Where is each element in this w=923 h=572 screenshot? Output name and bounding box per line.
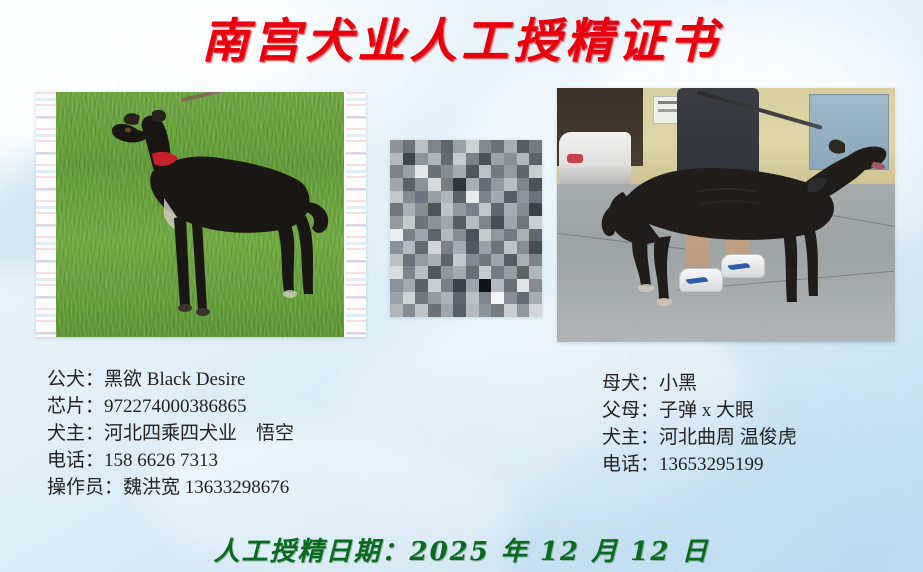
sire-phone-label: 电话：	[47, 450, 104, 471]
mosaic-cell	[428, 203, 441, 216]
mosaic-cell	[441, 229, 454, 242]
dam-row-name: 母犬：小黑	[602, 370, 797, 397]
mosaic-cell	[504, 140, 517, 153]
mosaic-cell	[529, 241, 542, 254]
mosaic-cell	[529, 292, 542, 305]
mosaic-cell	[466, 165, 479, 178]
mosaic-cell	[491, 191, 504, 204]
mosaic-cell	[466, 266, 479, 279]
mosaic-cell	[504, 241, 517, 254]
dam-owner-value: 河北曲周 温俊虎	[659, 427, 797, 448]
mosaic-cell	[441, 241, 454, 254]
dam-phone-label: 电话：	[602, 454, 659, 475]
dam-row-owner: 犬主：河北曲周 温俊虎	[602, 424, 797, 451]
mosaic-cell	[517, 266, 530, 279]
mosaic-cell	[504, 292, 517, 305]
mosaic-cell	[517, 279, 530, 292]
mosaic-cell	[441, 216, 454, 229]
mosaic-cell	[453, 304, 466, 317]
mosaic-cell	[504, 254, 517, 267]
mosaic-cell	[491, 241, 504, 254]
mosaic-cell	[504, 203, 517, 216]
mosaic-cell	[428, 153, 441, 166]
mosaic-cell	[479, 178, 492, 191]
mosaic-cell	[453, 140, 466, 153]
sire-name-value: 黑欲 Black Desire	[104, 369, 245, 390]
sire-row-chip: 芯片：972274000386865	[47, 393, 294, 420]
car-taillight	[567, 154, 583, 163]
mosaic-cell	[453, 241, 466, 254]
mosaic-cell	[479, 266, 492, 279]
mosaic-cell	[428, 216, 441, 229]
operator-value: 魏洪宽 13633298676	[123, 477, 289, 498]
mosaic-cell	[390, 153, 403, 166]
mosaic-cell	[415, 279, 428, 292]
mosaic-cell	[441, 178, 454, 191]
sire-name-label: 公犬：	[47, 369, 104, 390]
mosaic-cell	[415, 266, 428, 279]
mosaic-cell	[428, 229, 441, 242]
dam-parents-value: 子弹 x 大眼	[659, 400, 754, 421]
mosaic-cell	[453, 165, 466, 178]
sire-row-operator: 操作员：魏洪宽 13633298676	[47, 474, 294, 501]
mosaic-cell	[517, 292, 530, 305]
mosaic-cell	[504, 191, 517, 204]
mosaic-cell	[428, 241, 441, 254]
mosaic-cell	[453, 178, 466, 191]
operator-label: 操作员：	[47, 477, 123, 498]
mosaic-cell	[479, 216, 492, 229]
mosaic-cell	[479, 203, 492, 216]
mosaic-cell	[517, 191, 530, 204]
mosaic-cell	[403, 229, 416, 242]
dam-photo-frame	[557, 88, 895, 342]
mosaic-cell	[441, 292, 454, 305]
mosaic-cell	[504, 266, 517, 279]
mosaic-cell	[415, 140, 428, 153]
mosaic-cell	[491, 216, 504, 229]
mosaic-cell	[491, 254, 504, 267]
mosaic-cell	[491, 229, 504, 242]
mosaic-cell	[529, 279, 542, 292]
mosaic-cell	[453, 216, 466, 229]
insemination-date: 人工授精日期：2025 年 12 月 12 日	[0, 531, 923, 568]
mosaic-cell	[453, 292, 466, 305]
mosaic-cell	[466, 241, 479, 254]
mosaic-cell	[415, 241, 428, 254]
mosaic-cell	[491, 292, 504, 305]
mosaic-cell	[403, 203, 416, 216]
mosaic-cell	[415, 216, 428, 229]
mosaic-cell	[428, 140, 441, 153]
mosaic-cell	[415, 203, 428, 216]
mosaic-cell	[403, 165, 416, 178]
mosaic-cell	[403, 178, 416, 191]
mosaic-cell	[403, 216, 416, 229]
mosaic-cell	[529, 266, 542, 279]
mosaic-cell	[415, 304, 428, 317]
mosaic-cell	[415, 178, 428, 191]
mosaic-cell	[479, 279, 492, 292]
mosaic-cell	[390, 140, 403, 153]
mosaic-cell	[504, 165, 517, 178]
mosaic-cell	[428, 279, 441, 292]
dam-phone-value: 13653295199	[659, 454, 764, 475]
mosaic-cell	[403, 191, 416, 204]
mosaic-cell	[517, 203, 530, 216]
mosaic-cell	[441, 165, 454, 178]
mosaic-cell	[466, 216, 479, 229]
mosaic-cell	[529, 191, 542, 204]
mosaic-cell	[390, 292, 403, 305]
mosaic-cell	[466, 292, 479, 305]
certificate-title: 南宫犬业人工授精证书	[0, 2, 923, 71]
sire-phone-value: 158 6626 7313	[104, 450, 218, 471]
mosaic-cell	[403, 266, 416, 279]
mosaic-cell	[491, 153, 504, 166]
mosaic-cell	[441, 140, 454, 153]
dam-photo	[557, 88, 895, 342]
photo-border-strip-right	[346, 92, 366, 337]
mosaic-cell	[415, 153, 428, 166]
mosaic-cell	[428, 266, 441, 279]
dam-owner-label: 犬主：	[602, 427, 659, 448]
mosaic-cell	[415, 254, 428, 267]
mosaic-cell	[466, 140, 479, 153]
dam-row-parents: 父母：子弹 x 大眼	[602, 397, 797, 424]
mosaic-cell	[529, 140, 542, 153]
mosaic-cell	[428, 165, 441, 178]
sire-chip-value: 972274000386865	[104, 396, 247, 417]
mosaic-cell	[403, 153, 416, 166]
sire-dog-figure	[108, 106, 338, 332]
mosaic-cell	[479, 241, 492, 254]
mosaic-cell	[390, 304, 403, 317]
mosaic-cell	[415, 229, 428, 242]
mosaic-cell	[529, 178, 542, 191]
mosaic-cell	[504, 304, 517, 317]
mosaic-cell	[453, 266, 466, 279]
mosaic-cell	[453, 203, 466, 216]
mosaic-cell	[479, 229, 492, 242]
sire-photo-frame	[36, 92, 366, 337]
sire-owner-label: 犬主：	[47, 423, 104, 444]
mosaic-cell	[390, 165, 403, 178]
mosaic-cell	[517, 304, 530, 317]
mosaic-cell	[390, 279, 403, 292]
mosaic-cell	[415, 191, 428, 204]
mosaic-cell	[466, 203, 479, 216]
photo-border-strip-left	[36, 92, 56, 337]
mosaic-cell	[390, 216, 403, 229]
mosaic-cell	[453, 229, 466, 242]
mosaic-cell	[441, 304, 454, 317]
mosaic-cell	[390, 241, 403, 254]
mosaic-cell	[403, 292, 416, 305]
sire-row-name: 公犬：黑欲 Black Desire	[47, 366, 294, 393]
mosaic-cell	[390, 191, 403, 204]
mosaic-cell	[491, 140, 504, 153]
mosaic-cell	[403, 304, 416, 317]
mosaic-cell	[529, 153, 542, 166]
mosaic-cell	[390, 254, 403, 267]
mosaic-cell	[441, 254, 454, 267]
dam-information: 母犬：小黑 父母：子弹 x 大眼 犬主：河北曲周 温俊虎 电话：13653295…	[602, 370, 797, 478]
mosaic-cell	[403, 254, 416, 267]
mosaic-cell	[441, 203, 454, 216]
mosaic-cell	[529, 203, 542, 216]
mosaic-cell	[466, 279, 479, 292]
mosaic-cell	[428, 292, 441, 305]
mosaic-cell	[453, 191, 466, 204]
mosaic-cell	[428, 191, 441, 204]
mosaic-cell	[517, 216, 530, 229]
sire-chip-label: 芯片：	[47, 396, 104, 417]
dam-name-value: 小黑	[659, 373, 697, 394]
mosaic-cell	[415, 292, 428, 305]
mosaic-cell	[504, 229, 517, 242]
dam-dog-figure	[597, 110, 887, 328]
mosaic-cell	[479, 304, 492, 317]
mosaic-cell	[529, 254, 542, 267]
mosaic-cell	[466, 191, 479, 204]
mosaic-cell	[479, 165, 492, 178]
dam-row-phone: 电话：13653295199	[602, 451, 797, 478]
mosaic-cell	[504, 153, 517, 166]
mosaic-cell	[479, 254, 492, 267]
sire-owner-value: 河北四乘四犬业 悟空	[104, 423, 294, 444]
insemination-certificate: 南宫犬业人工授精证书	[0, 0, 923, 572]
mosaic-cell	[453, 254, 466, 267]
mosaic-cell	[466, 178, 479, 191]
sire-photo	[56, 92, 344, 337]
mosaic-cell	[415, 165, 428, 178]
mosaic-cell	[466, 254, 479, 267]
mosaic-cell	[441, 279, 454, 292]
mosaic-cell	[517, 241, 530, 254]
mosaic-cell	[390, 266, 403, 279]
mosaic-cell	[491, 178, 504, 191]
mosaic-cell	[390, 229, 403, 242]
mosaic-cell	[491, 304, 504, 317]
mosaic-cell	[441, 191, 454, 204]
mosaic-cell	[479, 191, 492, 204]
mosaic-cell	[453, 153, 466, 166]
mosaic-cell	[441, 153, 454, 166]
mosaic-cell	[491, 266, 504, 279]
mosaic-cell	[517, 153, 530, 166]
mosaic-cell	[479, 153, 492, 166]
mosaic-cell	[517, 140, 530, 153]
mosaic-cell	[453, 279, 466, 292]
mosaic-cell	[428, 178, 441, 191]
mosaic-cell	[403, 279, 416, 292]
mosaic-cell	[403, 140, 416, 153]
mosaic-cell	[428, 254, 441, 267]
mosaic-cell	[529, 165, 542, 178]
mosaic-cell	[529, 229, 542, 242]
mosaic-cell	[517, 178, 530, 191]
sire-row-phone: 电话：158 6626 7313	[47, 447, 294, 474]
mosaic-cell	[441, 266, 454, 279]
mosaic-cell	[479, 140, 492, 153]
mosaic-cell	[491, 165, 504, 178]
dam-parents-label: 父母：	[602, 400, 659, 421]
mosaic-cell	[390, 203, 403, 216]
mosaic-cell	[504, 216, 517, 229]
mosaic-cell	[517, 165, 530, 178]
dam-name-label: 母犬：	[602, 373, 659, 394]
mosaic-censored-image	[390, 140, 542, 317]
sire-information: 公犬：黑欲 Black Desire 芯片：972274000386865 犬主…	[47, 366, 294, 501]
mosaic-cell	[504, 279, 517, 292]
mosaic-cell	[529, 216, 542, 229]
mosaic-cell	[491, 203, 504, 216]
mosaic-cell	[529, 304, 542, 317]
mosaic-cell	[491, 279, 504, 292]
mosaic-cell	[517, 229, 530, 242]
mosaic-cell	[466, 304, 479, 317]
mosaic-cell	[428, 304, 441, 317]
mosaic-cell	[466, 229, 479, 242]
mosaic-cell	[479, 292, 492, 305]
sire-row-owner: 犬主：河北四乘四犬业 悟空	[47, 420, 294, 447]
mosaic-cell	[403, 241, 416, 254]
mosaic-cell	[517, 254, 530, 267]
mosaic-cell	[390, 178, 403, 191]
mosaic-cell	[466, 153, 479, 166]
mosaic-cell	[504, 178, 517, 191]
